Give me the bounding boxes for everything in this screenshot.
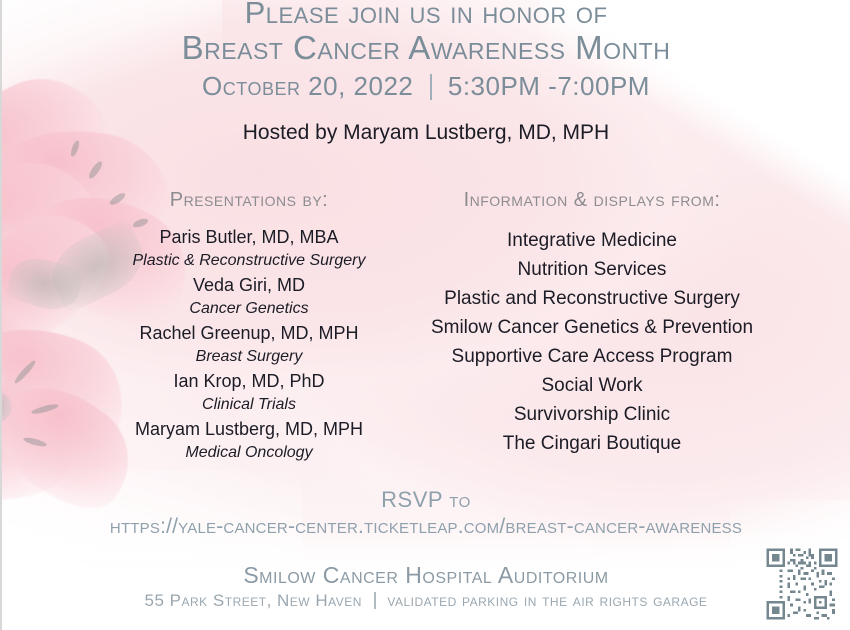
event-time: 5:30PM -7:00PM [448,71,650,101]
speaker-entry: Veda Giri, MD Cancer Genetics [94,274,404,319]
speaker-name: Maryam Lustberg, MD, MPH [94,418,404,441]
displays-column: Information & displays from: Integrative… [406,188,778,458]
date-time-divider [430,74,432,100]
display-item: Integrative Medicine [406,226,778,255]
speaker-name: Veda Giri, MD [94,274,404,297]
presentations-heading: Presentations by: [94,188,404,212]
display-item: Smilow Cancer Genetics & Prevention [406,313,778,342]
event-date: October 20, 2022 [202,71,413,101]
displays-heading: Information & displays from: [406,188,778,212]
speaker-department: Clinical Trials [94,394,404,415]
venue-name: Smilow Cancer Hospital Auditorium [2,561,850,589]
speaker-entry: Ian Krop, MD, PhD Clinical Trials [94,370,404,415]
presentations-column: Presentations by: Paris Butler, MD, MBA … [94,188,404,463]
speaker-name: Rachel Greenup, MD, MPH [94,322,404,345]
qr-code[interactable] [764,546,840,622]
display-item: Social Work [406,371,778,400]
speaker-department: Cancer Genetics [94,298,404,319]
speaker-name: Ian Krop, MD, PhD [94,370,404,393]
speaker-department: Plastic & Reconstructive Surgery [94,250,404,271]
speaker-department: Breast Surgery [94,346,404,367]
address-parking-divider [374,592,376,609]
headline-line-1: Please join us in honor of [2,0,850,30]
venue-address-line: 55 Park Street, New Haven validated park… [2,590,850,612]
rsvp-label: RSVP to [2,487,850,513]
display-item: The Cingari Boutique [406,429,778,458]
display-item: Survivorship Clinic [406,400,778,429]
venue-address: 55 Park Street, New Haven [145,591,362,610]
speaker-department: Medical Oncology [94,442,404,463]
display-item: Supportive Care Access Program [406,342,778,371]
speaker-entry: Maryam Lustberg, MD, MPH Medical Oncolog… [94,418,404,463]
date-time-line: October 20, 2022 5:30PM -7:00PM [2,70,850,102]
display-item: Nutrition Services [406,255,778,284]
speaker-entry: Rachel Greenup, MD, MPH Breast Surgery [94,322,404,367]
speaker-entry: Paris Butler, MD, MBA Plastic & Reconstr… [94,226,404,271]
host-line: Hosted by Maryam Lustberg, MD, MPH [2,120,850,146]
display-item: Plastic and Reconstructive Surgery [406,284,778,313]
headline-line-2: Breast Cancer Awareness Month [2,29,850,67]
speaker-name: Paris Butler, MD, MBA [94,226,404,249]
rsvp-url-link[interactable]: https://yale-cancer-center.ticketleap.co… [2,514,850,540]
event-flyer: Please join us in honor of Breast Cancer… [0,0,850,630]
parking-note: validated parking in the air rights gara… [387,591,707,610]
